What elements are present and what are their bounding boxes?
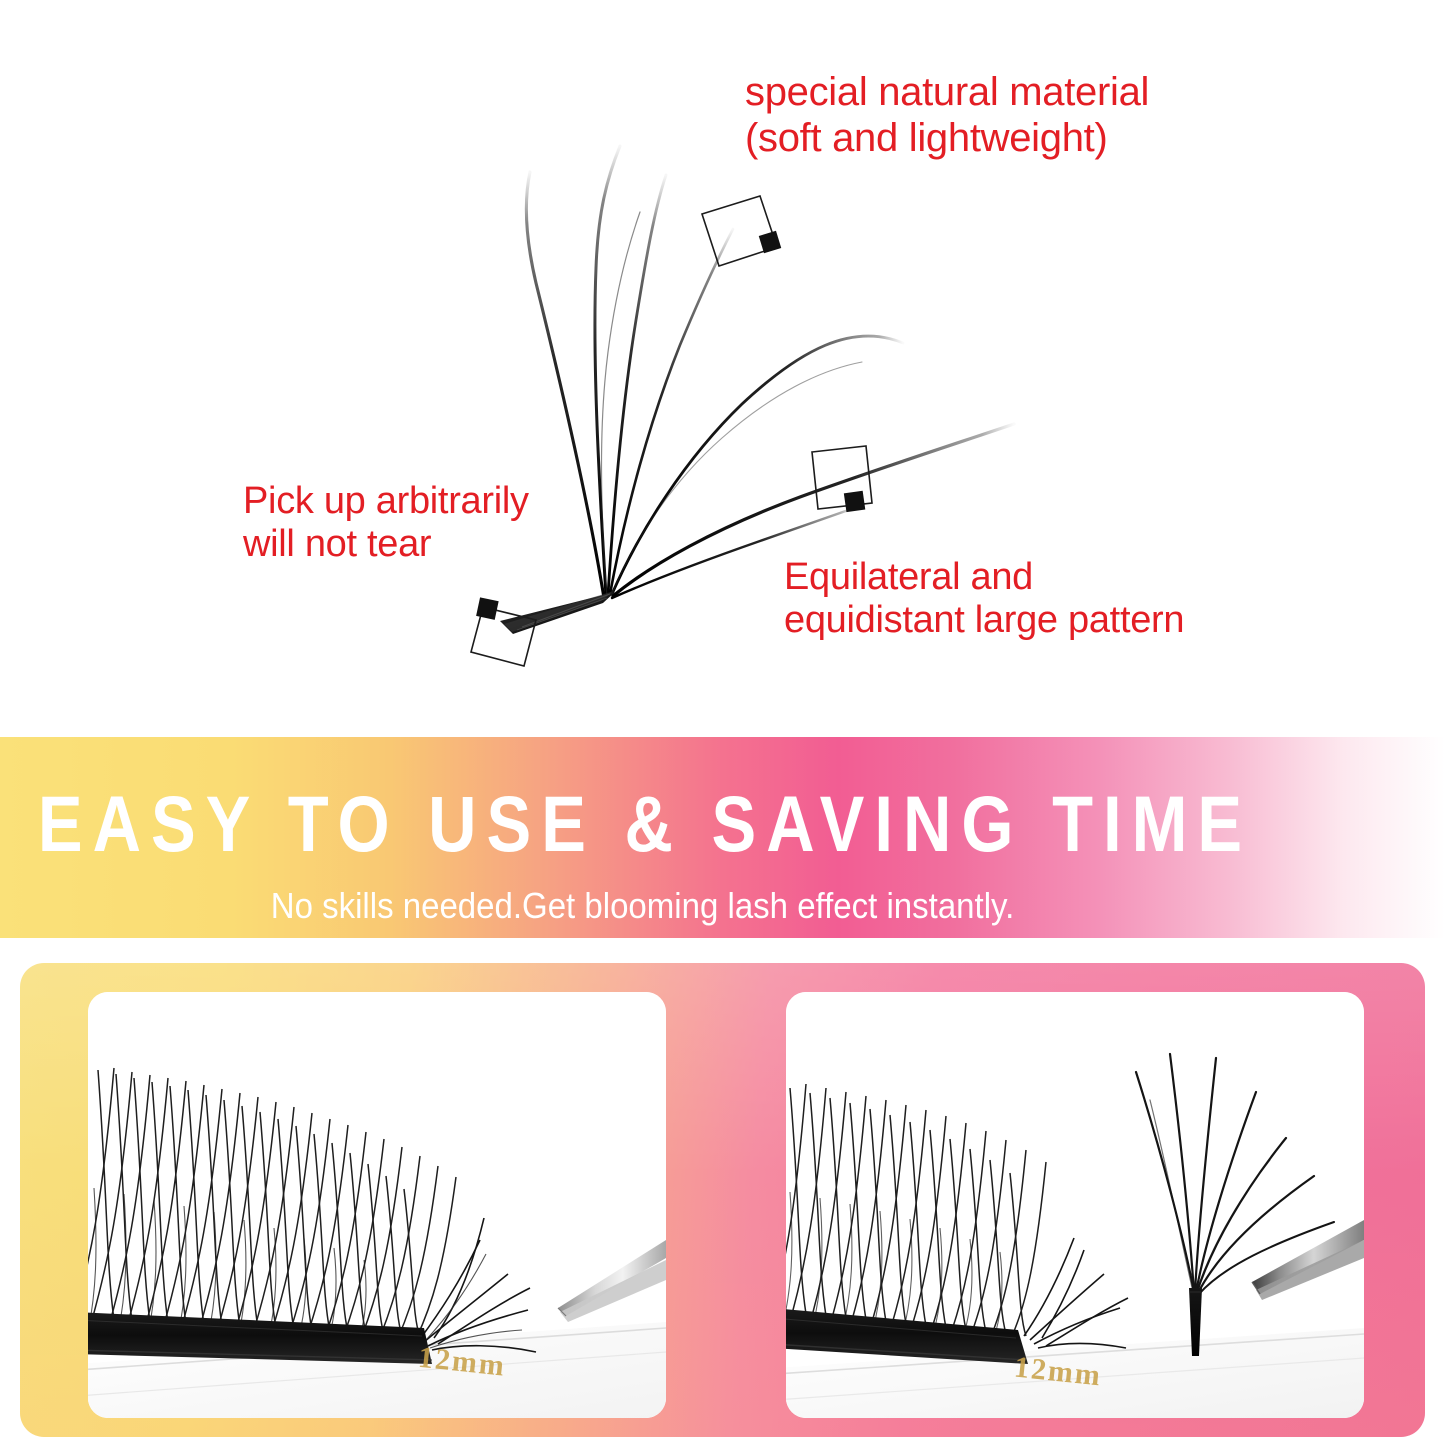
callout-equilateral-text: Equilateral and equidistant large patter… — [784, 556, 1184, 643]
photo-panel-lash-fan-pickup: 12mm 12mm — [786, 992, 1364, 1418]
product-photo-section: 12mm 12mm — [20, 963, 1425, 1437]
lash-tray-photo: 12mm — [88, 992, 666, 1418]
lash-strand-group — [526, 146, 1014, 598]
feature-banner: EASY TO USE & SAVING TIME No skills need… — [0, 737, 1445, 938]
callout-marker-1 — [702, 196, 781, 266]
photo-panel-lash-tray: 12mm 12mm — [88, 992, 666, 1418]
lash-fan-pickup-photo: 12mm — [786, 992, 1364, 1418]
callout-marker-3 — [471, 597, 536, 666]
banner-headline: EASY TO USE & SAVING TIME — [0, 785, 1290, 864]
callout-pickup-text: Pick up arbitrarily will not tear — [243, 480, 529, 567]
callout-material-text: special natural material (soft and light… — [745, 70, 1149, 161]
callout-marker-2 — [812, 446, 872, 512]
banner-subheadline: No skills needed.Get blooming lash effec… — [0, 887, 1285, 923]
lash-fan-illustration — [0, 0, 1445, 737]
top-illustration-section: special natural material (soft and light… — [0, 0, 1445, 737]
lash-base — [500, 591, 615, 634]
